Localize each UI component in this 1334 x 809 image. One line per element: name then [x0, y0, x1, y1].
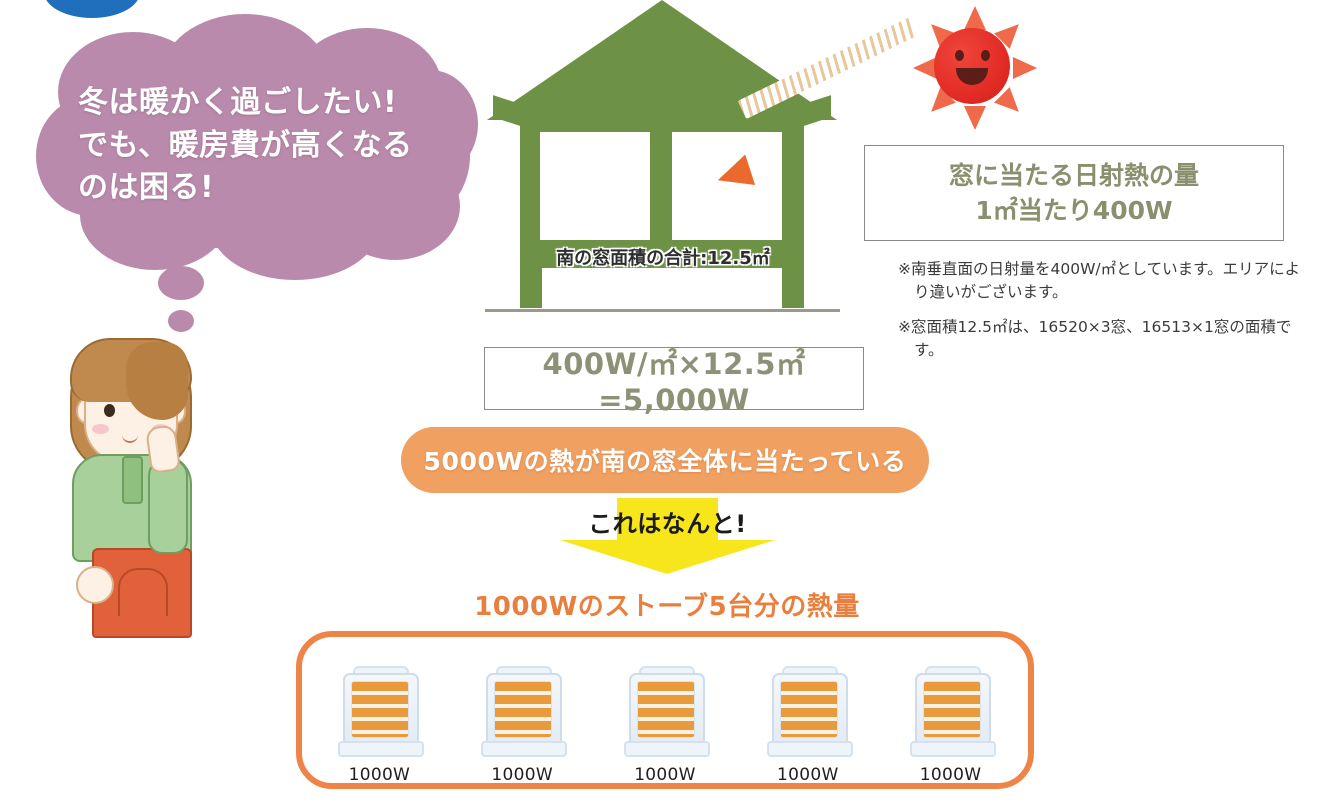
calculation-formula: 400W/㎡×12.5㎡=5,000W [485, 341, 863, 417]
bubble-tail-small [168, 310, 194, 332]
heater-base [481, 741, 567, 757]
sun-disc [934, 28, 1010, 104]
heater-grill [780, 681, 838, 738]
ground-line [485, 309, 840, 312]
heater-grill [637, 681, 695, 738]
sun-ray [964, 106, 986, 130]
heater-base [338, 741, 424, 757]
footnotes: ※南垂直面の日射量を400W/㎡としています。エリアにより違いがございます。 ※… [898, 258, 1308, 374]
solar-box-line-2: 1㎡当たり400W [949, 193, 1199, 229]
heater-label: 1000W [349, 765, 411, 785]
arm-right [148, 458, 188, 554]
skirt-fold [118, 568, 168, 616]
hair-side [126, 342, 188, 420]
calculation-box: 400W/㎡×12.5㎡=5,000W [484, 347, 864, 410]
heater-item: 1000W [888, 665, 1014, 785]
summary-banner-text: 5000Wの熱が南の窓全体に当たっている [424, 442, 907, 478]
bubble-line-3: のは困る! [78, 167, 468, 210]
girl-character [48, 330, 218, 630]
infographic-canvas: 冬は暖かく過ごしたい! でも、暖房費が高くなる のは困る! [0, 0, 1334, 809]
sun-ray [1013, 57, 1037, 79]
heater-base [767, 741, 853, 757]
down-arrow: これはなんと! [560, 498, 775, 574]
heater-grill [494, 681, 552, 738]
heater-row: 1000W 1000W 1000W [308, 640, 1022, 785]
thought-bubble-text: 冬は暖かく過ごしたい! でも、暖房費が高くなる のは困る! [78, 82, 468, 210]
heater-item: 1000W [745, 665, 871, 785]
sun-ray [964, 6, 986, 30]
heater-icon [766, 665, 850, 753]
heater-grill [923, 681, 981, 738]
heater-item: 1000W [602, 665, 728, 785]
heater-label: 1000W [777, 765, 839, 785]
roof [487, 0, 837, 120]
heater-base [624, 741, 710, 757]
sun-eye-left [955, 50, 964, 61]
bubble-tail-large [158, 266, 204, 300]
arrow-text: これはなんと! [560, 504, 775, 539]
heater-label: 1000W [920, 765, 982, 785]
heat-equivalence-headline: 1000Wのストーブ5台分の熱量 [367, 586, 967, 623]
heater-icon [480, 665, 564, 753]
bubble-line-2: でも、暖房費が高くなる [78, 125, 468, 168]
window-left [540, 132, 650, 240]
heater-label: 1000W [634, 765, 696, 785]
footnote-1: ※南垂直面の日射量を400W/㎡としています。エリアにより違いがございます。 [898, 258, 1308, 304]
blush-left [92, 424, 109, 434]
bubble-line-1: 冬は暖かく過ごしたい! [78, 82, 468, 125]
house-underfloor-gap [542, 268, 782, 310]
heater-icon [623, 665, 707, 753]
eye-left [104, 404, 115, 417]
sun-icon [908, 8, 1032, 118]
sweater-placket [122, 456, 143, 504]
window-area-label: 南の窓面積の合計:12.5㎡ [538, 244, 788, 270]
thought-bubble: 冬は暖かく過ごしたい! でも、暖房費が高くなる のは困る! [30, 10, 490, 310]
footnote-2: ※窓面積12.5㎡は、16520×3窓、16513×1窓の面積です。 [898, 316, 1308, 362]
solar-heat-box: 窓に当たる日射熱の量 1㎡当たり400W [864, 145, 1284, 241]
heater-item: 1000W [316, 665, 442, 785]
heater-base [910, 741, 996, 757]
summary-banner: 5000Wの熱が南の窓全体に当たっている [401, 427, 929, 493]
heater-grill [351, 681, 409, 738]
heater-icon [909, 665, 993, 753]
arrow-head [560, 540, 775, 574]
sun-eye-right [981, 50, 990, 61]
hand-left [76, 566, 114, 604]
heater-label: 1000W [491, 765, 553, 785]
solar-box-line-1: 窓に当たる日射熱の量 [949, 158, 1199, 194]
heater-item: 1000W [459, 665, 585, 785]
heater-icon [337, 665, 421, 753]
house-illustration: 南の窓面積の合計:12.5㎡ [487, 0, 837, 330]
